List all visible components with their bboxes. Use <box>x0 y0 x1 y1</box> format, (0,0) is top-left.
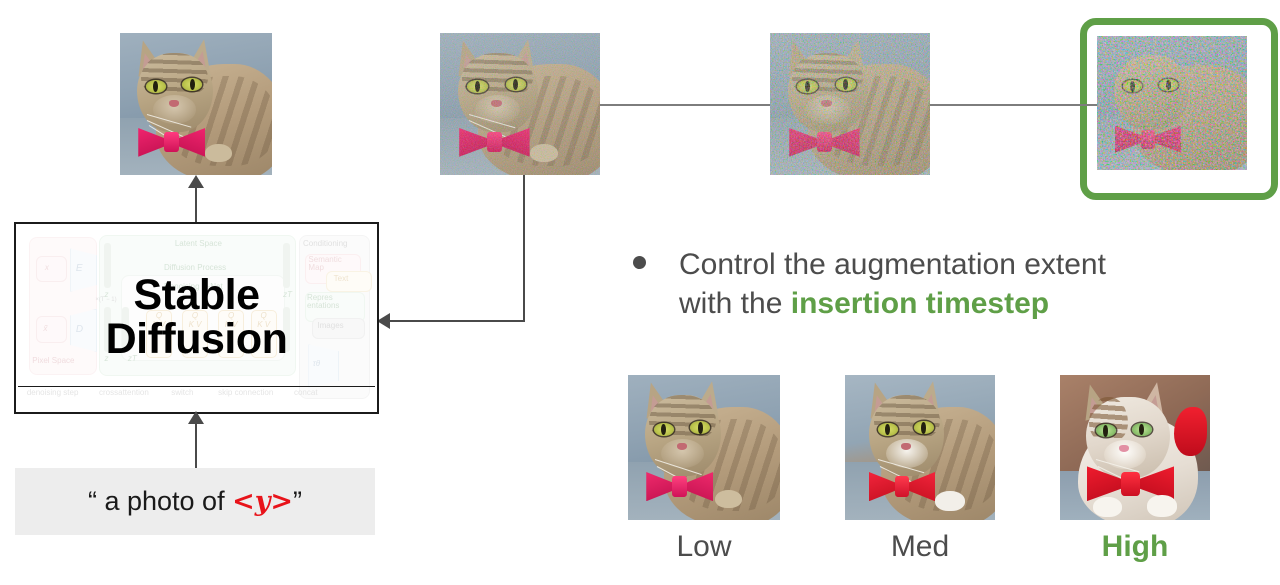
sample-caption-high: High <box>1060 530 1210 564</box>
arrow-noised-to-model-horizontal <box>390 320 525 322</box>
sample-caption-low: Low <box>628 530 780 564</box>
arrow-noised-to-model-vertical <box>523 175 525 321</box>
arch-label-input-x: x <box>45 263 49 272</box>
sd-title-line-2: Diffusion <box>106 315 288 363</box>
cat-paw <box>530 144 559 162</box>
arch-legend-item-denoising-step: denoising step <box>27 388 79 397</box>
prompt-close-quote: ” <box>293 486 302 516</box>
cat-scene <box>845 375 995 520</box>
cat-scene <box>440 33 600 175</box>
cat-nose <box>491 100 502 107</box>
cat-eye-left <box>467 80 488 93</box>
cat-bowtie <box>1115 124 1181 153</box>
cat-bowtie <box>646 471 713 503</box>
cat-paw <box>935 491 965 511</box>
cat-eye-left <box>797 80 818 93</box>
text-prompt-box[interactable]: “ a photo of <y>” <box>15 468 375 535</box>
cat-eye-right <box>1132 423 1152 436</box>
cat-nose <box>169 100 180 107</box>
connector-low-to-med <box>600 104 770 106</box>
sample-caption-med: Med <box>845 530 995 564</box>
cat-eye-left <box>1096 424 1116 437</box>
cat-scene <box>1060 375 1210 520</box>
cat-bowtie <box>789 127 859 158</box>
arch-legend-item-concat: concat <box>294 388 318 397</box>
bullet-line-2-prefix: with the <box>679 287 791 320</box>
cat-paw-right <box>1147 495 1177 517</box>
cat-nose <box>1119 445 1130 452</box>
arch-label-conditioning: Conditioning <box>303 239 347 248</box>
arch-label-latent-space: Latent Space <box>175 239 222 248</box>
bullet-line-1: Control the augmentation extent <box>679 248 1106 281</box>
arrow-prompt-to-model-head <box>188 411 204 424</box>
bullet-line-2-highlight: insertion timestep <box>791 287 1049 320</box>
cat-eye-left <box>146 80 166 93</box>
arrow-prompt-to-model-line <box>195 422 197 469</box>
cat-scene <box>628 375 780 520</box>
cat-scene <box>770 33 930 175</box>
cat-bowtie <box>138 127 205 158</box>
cat-head <box>1114 55 1189 130</box>
bullet-point-text: Control the augmentation extent with the… <box>679 245 1106 323</box>
prompt-open-quote: “ <box>88 486 97 516</box>
arch-legend: denoising step crossattention switch ski… <box>16 388 377 410</box>
arch-legend-item-skip-connection: skip connection <box>218 388 273 397</box>
cat-nose <box>821 100 832 107</box>
noised-cat-image-med <box>770 33 930 175</box>
cat-bow-loop <box>1174 407 1207 456</box>
sample-image-med <box>845 375 995 520</box>
stable-diffusion-title: Stable Diffusion <box>16 274 377 362</box>
noised-cat-image-low <box>440 33 600 175</box>
connector-med-to-high <box>930 104 1097 106</box>
bullet-point-marker <box>633 256 646 269</box>
noised-cat-image-high <box>1097 36 1247 170</box>
cat-eye-left <box>654 423 674 436</box>
stable-diffusion-model-box: Latent Space Diffusion Process Denoising… <box>14 222 379 414</box>
arch-label-encoder: E <box>76 263 83 274</box>
cat-bowtie <box>459 127 529 158</box>
cat-paw <box>715 490 742 509</box>
sd-legend-divider <box>18 386 375 387</box>
cat-eye-right <box>1159 79 1179 91</box>
source-cat-image <box>120 33 272 175</box>
sample-image-high <box>1060 375 1210 520</box>
sd-title-line-1: Stable <box>133 271 259 319</box>
cat-bowtie <box>869 471 935 503</box>
cat-scene <box>120 33 272 175</box>
text-prompt-value: “ a photo of <y>” <box>88 486 302 517</box>
prompt-body: a photo of <box>97 486 232 516</box>
sample-image-low <box>628 375 780 520</box>
cat-eye-left <box>878 423 898 436</box>
arrow-model-to-image-line <box>195 186 197 222</box>
arrow-model-to-image-head <box>188 175 204 188</box>
prompt-placeholder-token: <y> <box>232 486 293 517</box>
arch-legend-item-switch: switch <box>171 388 193 397</box>
cat-paw <box>205 144 232 162</box>
cat-paw-left <box>1093 497 1122 517</box>
arch-legend-item-crossattention: crossattention <box>99 388 149 397</box>
cat-scene <box>1097 36 1247 170</box>
